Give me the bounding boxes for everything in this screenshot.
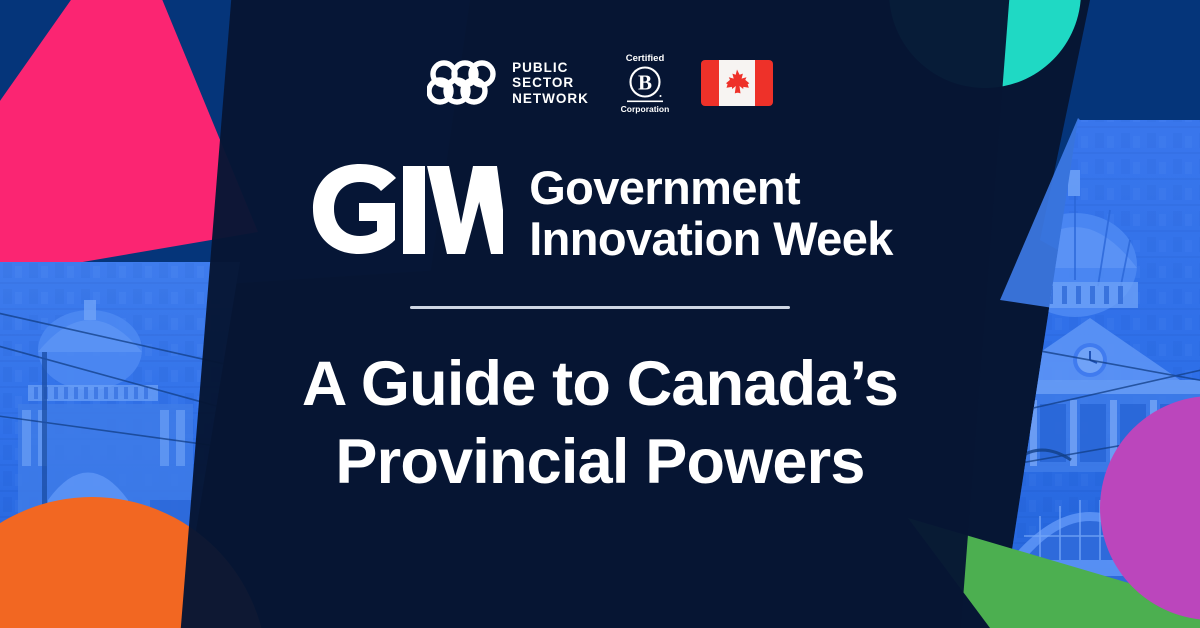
- giw-wordmark-line-2: Innovation Week: [529, 213, 893, 264]
- psn-line-2: SECTOR: [512, 75, 589, 91]
- psn-wordmark: PUBLIC SECTOR NETWORK: [512, 60, 589, 107]
- partner-logo-strip: PUBLIC SECTOR NETWORK Certified B Corpor…: [427, 52, 773, 114]
- page-title-line-1: A Guide to Canada’s: [302, 345, 898, 423]
- giw-wordmark-line-1: Government: [529, 162, 893, 213]
- psn-line-1: PUBLIC: [512, 60, 589, 76]
- public-sector-network-logo: PUBLIC SECTOR NETWORK: [427, 60, 589, 107]
- page-title: A Guide to Canada’s Provincial Powers: [302, 345, 898, 501]
- giw-brand-lockup: Government Innovation Week: [307, 161, 893, 264]
- divider-rule: [410, 306, 790, 309]
- psn-rings-icon: [427, 60, 499, 106]
- bcorp-letter-b: B: [638, 71, 652, 95]
- banner-canvas: PUBLIC SECTOR NETWORK Certified B Corpor…: [0, 0, 1200, 628]
- b-corp-logo-icon: Certified B Corporation: [615, 52, 675, 114]
- canada-flag-icon: [701, 60, 773, 106]
- content-stack: PUBLIC SECTOR NETWORK Certified B Corpor…: [0, 0, 1200, 628]
- giw-wordmark: Government Innovation Week: [529, 162, 893, 264]
- psn-line-3: NETWORK: [512, 91, 589, 107]
- page-title-line-2: Provincial Powers: [302, 423, 898, 501]
- bcorp-certified-text: Certified: [626, 53, 665, 64]
- giw-monogram-icon: [307, 161, 503, 257]
- bcorp-corporation-text: Corporation: [621, 104, 670, 114]
